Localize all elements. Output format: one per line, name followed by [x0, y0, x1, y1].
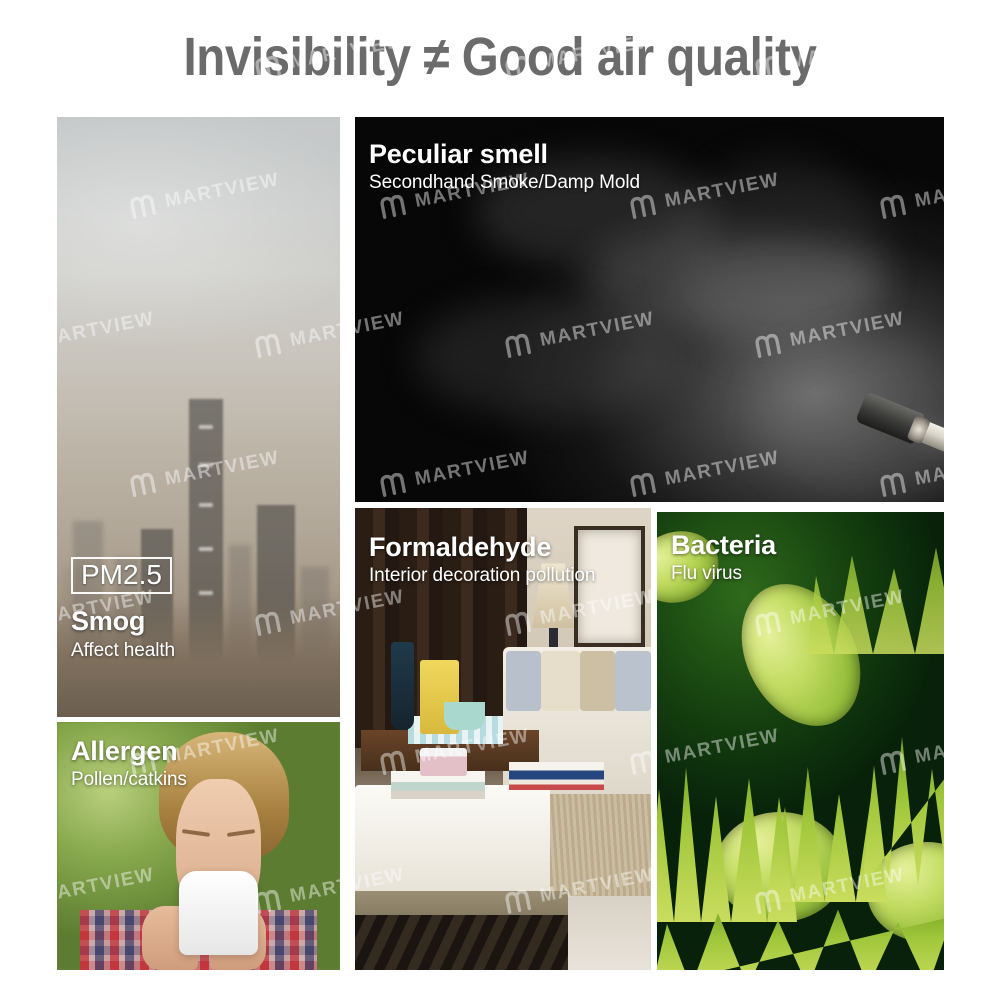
decor-bowl	[444, 702, 485, 730]
caption-allergen: Allergen Pollen/catkins	[57, 736, 340, 791]
panel-heading: Peculiar smell	[369, 139, 930, 169]
panel-heading: Bacteria	[671, 530, 930, 560]
panel-peculiar-smell[interactable]: Peculiar smell Secondhand Smoke/Damp Mol…	[355, 117, 944, 502]
panel-heading: Allergen	[71, 736, 326, 766]
vase	[391, 642, 415, 730]
page-title: Invisibility ≠ Good air quality	[60, 26, 940, 88]
smoke-wisp	[415, 297, 675, 417]
martview-m-logo	[3, 54, 33, 81]
watermark: MARTVIEW	[0, 169, 32, 220]
panel-smog[interactable]: PM2.5 Smog Affect health	[57, 117, 340, 717]
panel-subheading: Interior decoration pollution	[369, 564, 637, 587]
martview-m-logo	[3, 888, 33, 915]
infographic-page: Invisibility ≠ Good air quality PM2.5 Sm…	[0, 0, 1000, 1000]
panel-subheading: Affect health	[71, 639, 326, 662]
cushion	[615, 651, 651, 711]
panel-allergen[interactable]: Allergen Pollen/catkins	[57, 722, 340, 970]
pm25-badge: PM2.5	[71, 557, 172, 594]
panel-formaldehyde[interactable]: Formaldehyde Interior decoration polluti…	[355, 508, 651, 970]
book-stack	[509, 762, 604, 790]
panel-heading: Formaldehyde	[369, 532, 637, 562]
tissue	[179, 871, 258, 955]
martview-m-logo	[3, 332, 33, 359]
caption-formaldehyde: Formaldehyde Interior decoration polluti…	[355, 532, 651, 587]
panel-subheading: Flu virus	[671, 562, 930, 585]
cushion	[541, 651, 579, 711]
panel-heading: Smog	[71, 606, 326, 636]
watermark: MARTVIEW	[0, 447, 32, 498]
ottoman	[355, 785, 550, 896]
panel-subheading: Pollen/catkins	[71, 768, 326, 791]
panel-bacteria[interactable]: Bacteria Flu virus	[657, 512, 944, 970]
tissue-box	[420, 748, 467, 776]
caption-smog: PM2.5 Smog Affect health	[57, 557, 340, 662]
caption-peculiar-smell: Peculiar smell Secondhand Smoke/Damp Mol…	[355, 139, 944, 194]
panel-subheading: Secondhand Smoke/Damp Mold	[369, 171, 930, 194]
watermark: MARTVIEW	[0, 725, 32, 776]
cushion	[506, 651, 542, 711]
cushion	[580, 651, 616, 711]
martview-m-logo	[3, 610, 33, 637]
caption-bacteria: Bacteria Flu virus	[657, 530, 944, 585]
floor-lattice	[355, 915, 568, 970]
